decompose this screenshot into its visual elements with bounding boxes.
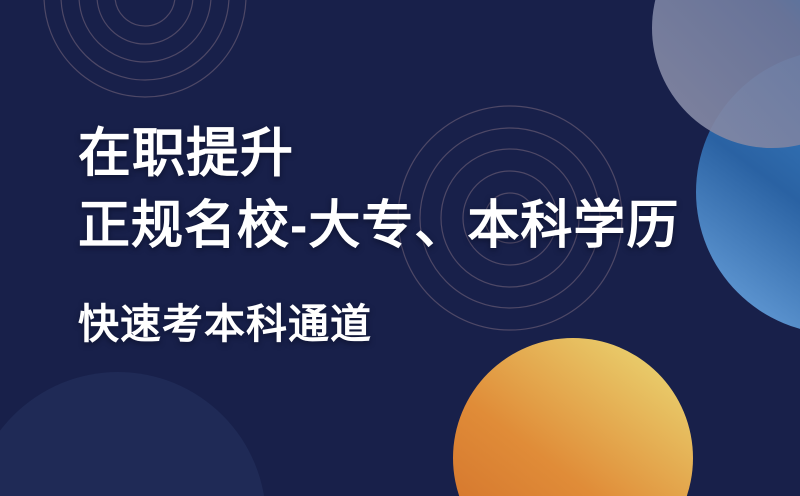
soft-navy-circle (0, 372, 266, 496)
bright-blue-circle (696, 50, 800, 334)
orange-sun-circle (453, 338, 693, 496)
ring-cluster-top-left (44, 0, 246, 97)
headline-line-2: 正规名校-大专、本科学历 (78, 190, 679, 262)
subline-text: 快速考本科通道 (78, 298, 679, 350)
headline-block: 在职提升 正规名校-大专、本科学历 快速考本科通道 (78, 118, 679, 350)
headline-line-1: 在职提升 (78, 118, 679, 190)
education-promo-banner: 在职提升 正规名校-大专、本科学历 快速考本科通道 (0, 0, 800, 496)
